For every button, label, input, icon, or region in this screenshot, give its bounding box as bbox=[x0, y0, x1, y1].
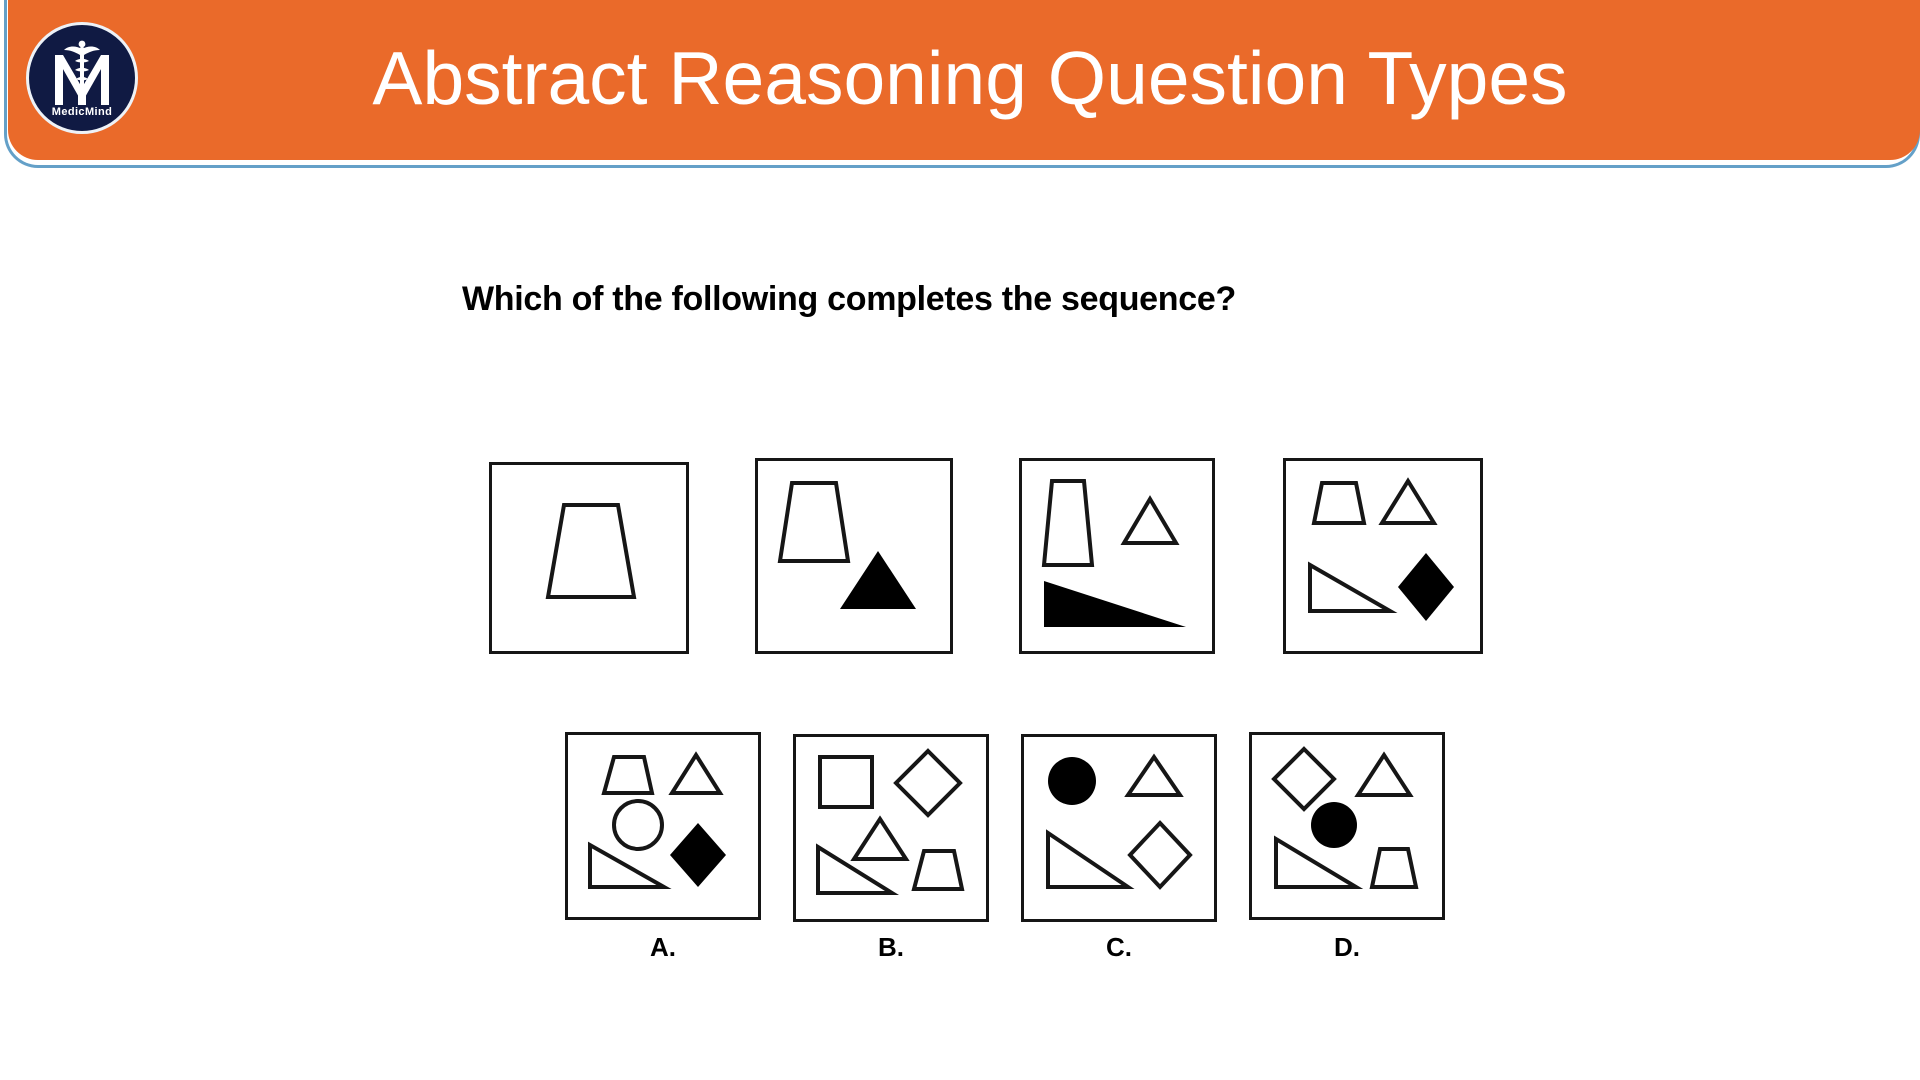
shape-right-triangle-solid bbox=[1044, 581, 1186, 627]
shape-triangle-outline bbox=[854, 819, 906, 859]
shape-trapezoid-outline bbox=[1044, 481, 1092, 565]
shape-trapezoid-outline bbox=[1372, 849, 1416, 887]
shape-triangle-outline bbox=[1358, 755, 1410, 795]
answer-option-d[interactable] bbox=[1249, 732, 1445, 920]
sequence-panel-2 bbox=[755, 458, 953, 654]
shape-circle-outline bbox=[614, 801, 662, 849]
answer-option-a-label: A. bbox=[565, 932, 761, 963]
answer-option-c-label: C. bbox=[1021, 932, 1217, 963]
shape-circle-solid bbox=[1048, 757, 1096, 805]
sequence-row bbox=[489, 458, 1509, 658]
shape-trapezoid-outline bbox=[1314, 483, 1364, 523]
answer-options-row: A. B. C. bbox=[565, 732, 1455, 922]
shape-triangle-outline bbox=[1128, 757, 1180, 795]
sequence-panel-3 bbox=[1019, 458, 1215, 654]
answer-option-b-label: B. bbox=[793, 932, 989, 963]
shape-triangle-solid bbox=[840, 551, 916, 609]
shape-right-triangle-outline bbox=[1048, 833, 1128, 887]
medicmind-logo: MedicMind bbox=[26, 22, 138, 134]
answer-option-b[interactable] bbox=[793, 734, 989, 922]
slide-header: MedicMind Abstract Reasoning Question Ty… bbox=[0, 0, 1920, 170]
logo-wordmark: MedicMind bbox=[29, 106, 135, 118]
shape-triangle-outline bbox=[672, 755, 720, 793]
shape-trapezoid-outline bbox=[548, 505, 634, 597]
shape-circle-solid bbox=[1311, 802, 1357, 848]
shape-diamond-outline bbox=[1274, 749, 1334, 809]
shape-diamond-outline bbox=[1130, 823, 1190, 887]
shape-right-triangle-outline bbox=[1276, 839, 1356, 887]
answer-option-d-label: D. bbox=[1249, 932, 1445, 963]
shape-trapezoid-outline bbox=[914, 851, 962, 889]
shape-diamond-solid bbox=[670, 823, 726, 887]
shape-diamond-outline bbox=[896, 751, 960, 815]
shape-trapezoid-outline bbox=[604, 757, 652, 793]
sequence-panel-1 bbox=[489, 462, 689, 654]
answer-option-a[interactable] bbox=[565, 732, 761, 920]
shape-diamond-solid bbox=[1398, 553, 1454, 621]
page-title: Abstract Reasoning Question Types bbox=[345, 30, 1595, 126]
shape-trapezoid-outline bbox=[780, 483, 848, 561]
shape-right-triangle-outline bbox=[1310, 565, 1390, 611]
shape-triangle-outline bbox=[1124, 499, 1176, 543]
shape-triangle-outline bbox=[1382, 481, 1434, 523]
sequence-panel-4 bbox=[1283, 458, 1483, 654]
question-prompt: Which of the following completes the seq… bbox=[462, 280, 1236, 319]
shape-right-triangle-outline bbox=[590, 845, 664, 887]
slide-content: Which of the following completes the seq… bbox=[0, 170, 1920, 1080]
answer-option-c[interactable] bbox=[1021, 734, 1217, 922]
shape-square-outline bbox=[820, 757, 872, 807]
